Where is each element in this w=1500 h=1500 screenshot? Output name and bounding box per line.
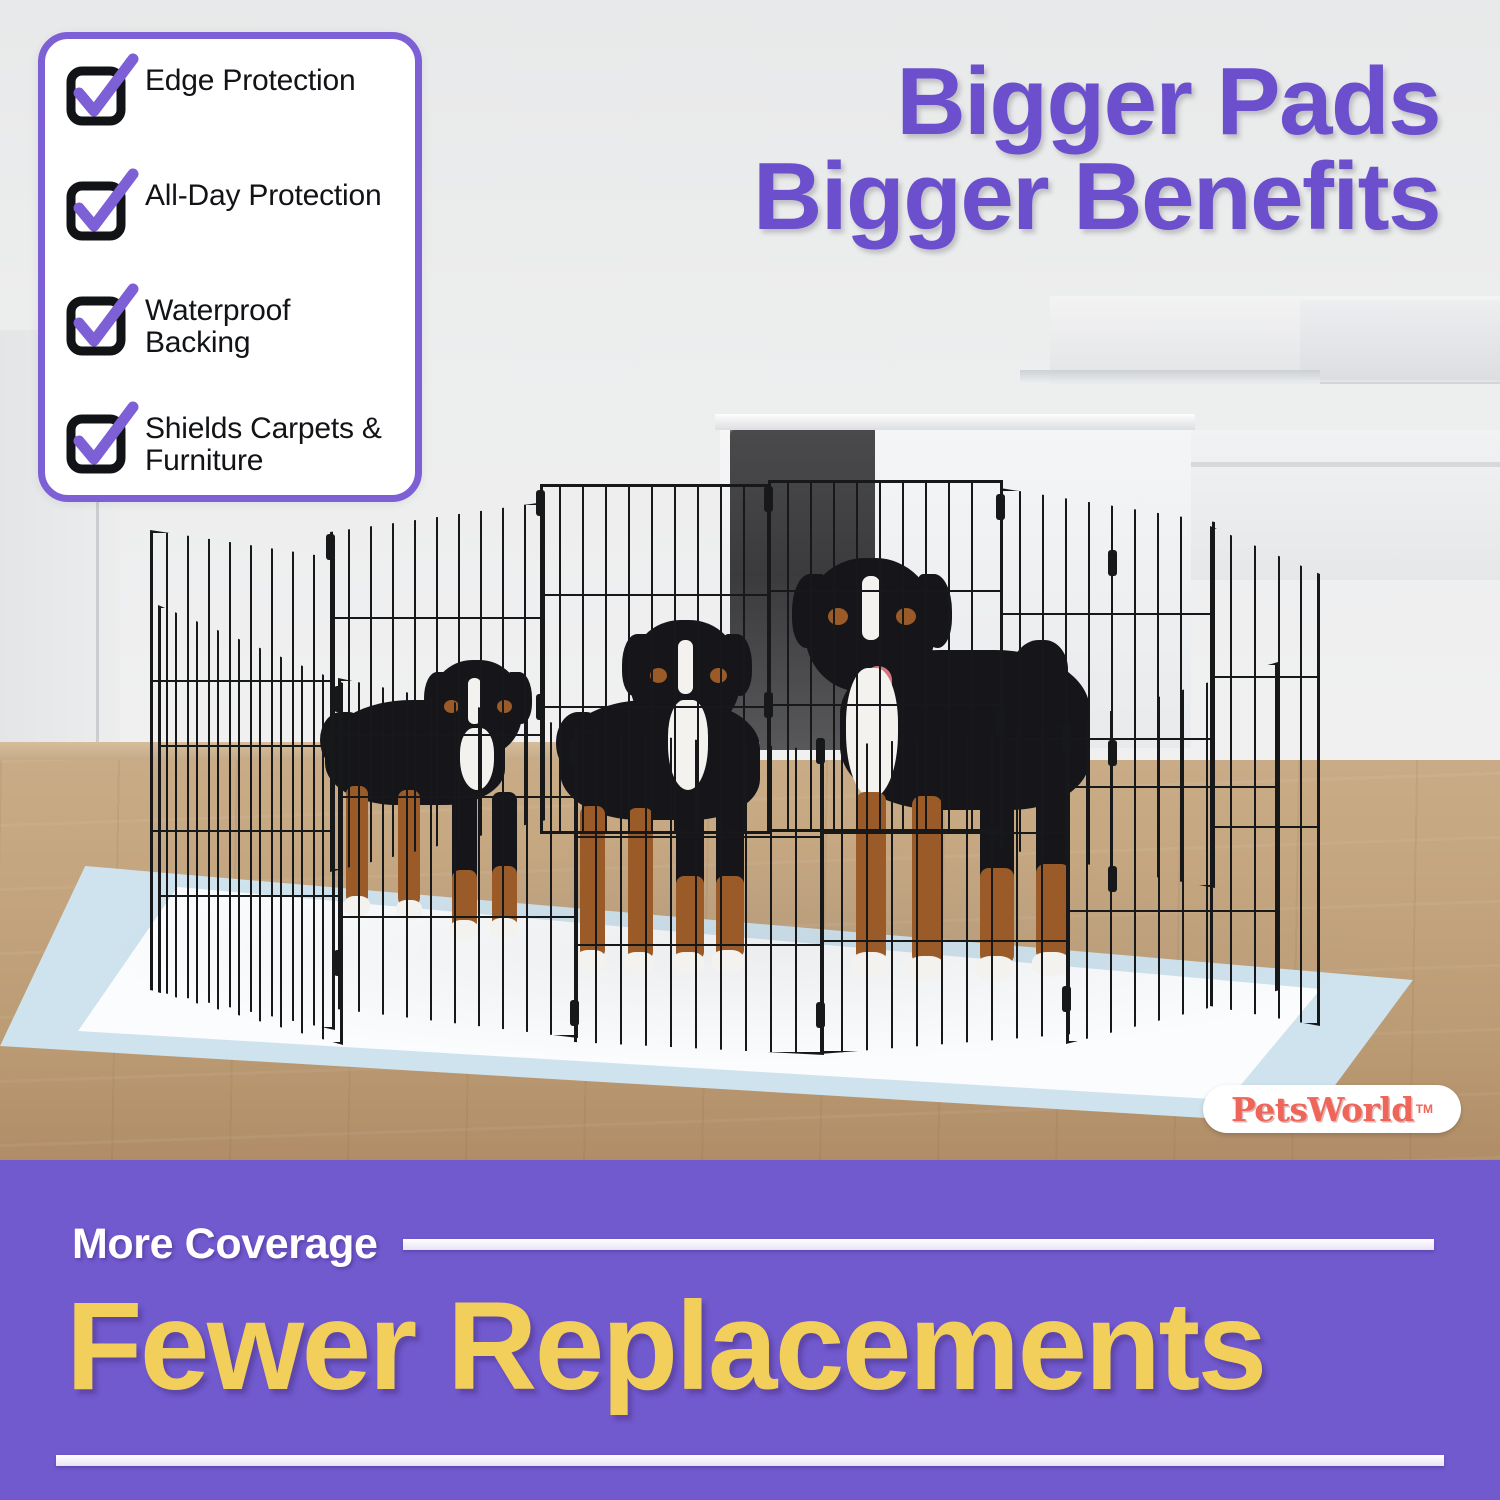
feature-list-card: Edge Protection All-Day Protection Water… bbox=[38, 32, 422, 502]
pen-panel-11 bbox=[1066, 662, 1278, 1044]
banner-eyebrow: More Coverage bbox=[72, 1220, 377, 1269]
pen-panel-9 bbox=[574, 730, 824, 1055]
product-marketing-image: Bigger Pads Bigger Benefits Edge Protect… bbox=[0, 0, 1500, 1500]
feature-label: Edge Protection bbox=[145, 65, 355, 97]
feature-label: Waterproof Backing bbox=[145, 295, 397, 359]
pen-hinge bbox=[570, 1000, 579, 1026]
pen-hinge bbox=[326, 730, 335, 756]
pen-hinge bbox=[334, 950, 343, 976]
pen-hinge bbox=[764, 486, 773, 512]
pen-hinge bbox=[326, 534, 335, 560]
feature-item-all-day-protection: All-Day Protection bbox=[69, 180, 397, 240]
pen-hinge bbox=[996, 710, 1005, 736]
banner-rule-bottom bbox=[56, 1455, 1444, 1466]
checkbox-checked-icon bbox=[69, 415, 127, 473]
banner-eyebrow-row: More Coverage bbox=[72, 1220, 1434, 1269]
pen-hinge bbox=[334, 686, 343, 712]
banner-rule-top bbox=[403, 1239, 1434, 1250]
banner-headline: Fewer Replacements bbox=[66, 1284, 1450, 1409]
headline-line-2: Bigger Benefits bbox=[753, 149, 1440, 244]
island-countertop bbox=[715, 414, 1195, 430]
pen-hinge bbox=[536, 490, 545, 516]
feature-label: All-Day Protection bbox=[145, 180, 382, 212]
wire-exercise-pen bbox=[140, 430, 1320, 1090]
pen-hinge bbox=[816, 738, 825, 764]
pen-hinge bbox=[1108, 866, 1117, 892]
checkbox-checked-icon bbox=[69, 67, 127, 125]
glass-shelf bbox=[1020, 370, 1320, 384]
pen-panel-10 bbox=[820, 724, 1070, 1054]
pen-hinge bbox=[816, 1002, 825, 1028]
checkbox-checked-icon bbox=[69, 182, 127, 240]
feature-label: Shields Carpets & Furniture bbox=[145, 413, 397, 477]
brand-name: PetsWorld bbox=[1231, 1090, 1414, 1129]
upper-cabinet-right bbox=[1300, 300, 1500, 380]
feature-item-edge-protection: Edge Protection bbox=[69, 65, 397, 125]
trademark-symbol: TM bbox=[1416, 1102, 1433, 1116]
brand-logo: PetsWorldTM bbox=[1203, 1085, 1461, 1133]
pen-hinge bbox=[570, 740, 579, 766]
pen-hinge bbox=[764, 692, 773, 718]
headline: Bigger Pads Bigger Benefits bbox=[753, 54, 1440, 244]
pen-hinge bbox=[996, 494, 1005, 520]
bottom-banner: More Coverage Fewer Replacements bbox=[0, 1160, 1500, 1500]
pen-hinge bbox=[1062, 726, 1071, 752]
pen-hinge bbox=[1062, 986, 1071, 1012]
checkbox-checked-icon bbox=[69, 297, 127, 355]
pen-hinge bbox=[1108, 550, 1117, 576]
feature-item-shields-carpets-furniture: Shields Carpets & Furniture bbox=[69, 413, 397, 477]
feature-item-waterproof-backing: Waterproof Backing bbox=[69, 295, 397, 359]
pen-hinge bbox=[536, 694, 545, 720]
headline-line-1: Bigger Pads bbox=[753, 54, 1440, 149]
pen-panel-8 bbox=[338, 678, 578, 1038]
pen-hinge bbox=[1108, 740, 1117, 766]
